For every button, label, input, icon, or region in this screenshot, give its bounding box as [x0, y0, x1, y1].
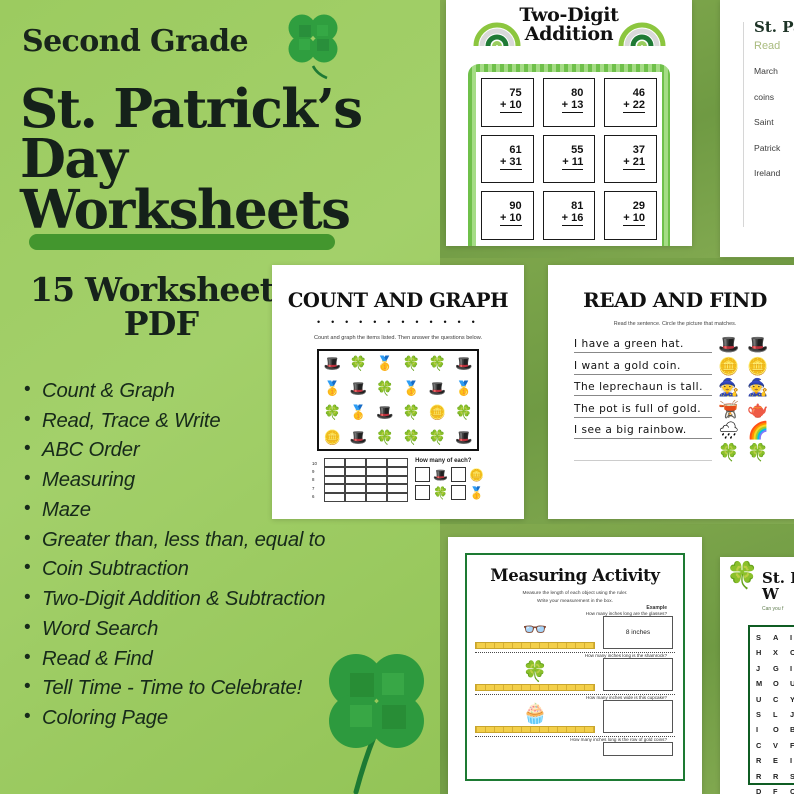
grid-letter[interactable]: G — [773, 664, 790, 673]
axis-tick: 8 — [312, 477, 317, 482]
addition-problem: 46 + 22 — [604, 78, 657, 127]
axis-tick: 9 — [312, 469, 317, 474]
glasses-icon: 👓 — [475, 620, 595, 640]
addend-bottom: + 11 — [562, 156, 583, 170]
worksheet-title: St. P W — [762, 571, 794, 603]
divider-bar — [29, 234, 335, 250]
addition-problem: 37 + 21 — [604, 135, 657, 184]
graph-cell[interactable] — [366, 476, 387, 485]
graph-grid[interactable] — [324, 458, 408, 502]
graph-cell[interactable] — [324, 484, 345, 493]
axis-tick: 10 — [312, 461, 317, 466]
clipart-choice[interactable]: 🌈 — [748, 422, 769, 439]
graph-cell[interactable] — [345, 467, 366, 476]
grid-letter[interactable]: E — [773, 756, 790, 765]
four-leaf-clover-icon — [277, 6, 349, 80]
rainbow-arch-icon — [618, 18, 666, 47]
clipart-item: 🥇 — [376, 356, 393, 370]
clipart-choice[interactable]: 🫖 — [747, 401, 768, 418]
sentence-text: I have a green hat. — [574, 338, 712, 353]
grid-letter[interactable]: S — [756, 633, 773, 642]
measuring-row: 🧁 — [467, 700, 683, 733]
addend-top: 61 — [509, 144, 521, 156]
clipart-choice[interactable]: 🎩 — [718, 336, 739, 353]
grid-letter[interactable]: A — [773, 633, 790, 642]
list-item: Two-Digit Addition & Subtraction — [21, 585, 421, 615]
axis-tick: 6 — [312, 494, 317, 499]
addend-bottom: + 10 — [500, 212, 522, 226]
measuring-object: 🍀 — [475, 662, 595, 691]
clipart-choice[interactable]: 🍀 — [747, 444, 768, 461]
answer-row: 🍀 🥇 — [415, 485, 484, 500]
grid-letter[interactable]: J — [790, 710, 794, 719]
addend-top: 81 — [571, 200, 583, 212]
picture-counting-box: 🎩 🍀 🥇 🍀 🍀 🎩 🥇 🎩 🍀 🥇 🎩 🥇 🍀 🥇 🎩 🍀 🪙 🍀 🪙 🎩 … — [317, 349, 479, 451]
grid-letter[interactable]: C — [756, 741, 773, 750]
worksheet-card-measuring-activity[interactable]: Measuring Activity Measure the length of… — [448, 537, 702, 794]
worksheet-card-read-and-find[interactable]: READ AND FIND Read the sentence. Circle … — [548, 265, 794, 519]
clipart-choice[interactable]: 🧙 — [718, 379, 739, 396]
measuring-object: 🧁 — [475, 704, 595, 733]
addend-bottom: + 31 — [500, 156, 522, 170]
addition-header: Two-Digit Addition — [446, 0, 692, 56]
worksheet-subtitle: Can you f — [762, 606, 794, 612]
grid-letter[interactable]: R — [756, 772, 773, 781]
answer-box[interactable] — [451, 467, 466, 482]
ruler-icon — [475, 642, 595, 649]
clipart-item: 🥇 — [402, 381, 419, 395]
measuring-row: 👓 8 inches — [467, 616, 683, 649]
answer-box[interactable] — [603, 700, 673, 733]
addition-problem: 55 + 11 — [543, 135, 596, 184]
addend-bottom: + 16 — [562, 212, 584, 226]
picture-choices[interactable]: 🧙 🧙 — [718, 379, 792, 396]
grid-letter[interactable]: R — [756, 756, 773, 765]
grid-letter[interactable]: I — [790, 756, 794, 765]
graph-cell[interactable] — [366, 493, 387, 502]
addend-bottom: + 13 — [562, 99, 584, 113]
addend-top: 37 — [633, 144, 645, 156]
grid-letter[interactable]: U — [756, 695, 773, 704]
worksheet-card-read-trace-write[interactable]: St. Pa Read March coins Saint Patrick Ir… — [720, 0, 794, 257]
clipart-item: 🍀 — [376, 381, 393, 395]
graph-cell[interactable] — [387, 458, 408, 467]
graph-cell[interactable] — [387, 476, 408, 485]
grid-letter[interactable]: L — [773, 710, 790, 719]
worksheet-title: READ AND FIND — [548, 288, 794, 312]
list-item: Ireland — [754, 168, 794, 178]
sentence-text: The leprechaun is tall. — [574, 381, 712, 396]
clipart-item: 🍀 — [402, 405, 419, 419]
picture-choices[interactable]: 🪙 🪙 — [718, 358, 792, 375]
answer-box[interactable] — [415, 467, 430, 482]
list-item: March — [754, 66, 794, 76]
grid-letter[interactable]: B — [790, 725, 794, 734]
grid-letter[interactable]: M — [756, 679, 773, 688]
clipart-choice[interactable]: 🎩 — [747, 336, 768, 353]
grid-letter[interactable]: F — [790, 741, 794, 750]
grid-letter[interactable]: O — [773, 725, 790, 734]
graph-cell[interactable] — [324, 467, 345, 476]
clipart-item: 🎩 — [323, 356, 340, 370]
addend-top: 46 — [633, 87, 645, 99]
addend-top: 55 — [571, 144, 583, 156]
clipart-choice[interactable]: 🌧 — [718, 422, 740, 439]
grid-letter[interactable]: J — [756, 664, 773, 673]
grid-letter[interactable]: X — [773, 648, 790, 657]
answer-box[interactable] — [415, 485, 430, 500]
list-item: Greater than, less than, equal to — [21, 526, 421, 556]
clipart-item: 🪙 — [429, 405, 446, 419]
wordsearch-grid[interactable]: S A I L H X O M J G I A M O U T U — [756, 633, 794, 794]
answer-box[interactable]: 8 inches — [603, 616, 673, 649]
addition-problem: 81 + 16 — [543, 191, 596, 240]
grid-letter[interactable]: D — [756, 787, 773, 794]
graph-lower-section: 10 9 8 7 6 How many of each? — [312, 458, 484, 502]
list-item: Patrick — [754, 143, 794, 153]
grid-letter[interactable]: C — [790, 787, 794, 794]
addition-problem: 61 + 31 — [481, 135, 534, 184]
graph-cell[interactable] — [366, 458, 387, 467]
sentence-text: I want a gold coin. — [574, 360, 712, 375]
list-item: Saint — [754, 117, 794, 127]
grid-letter[interactable]: I — [790, 664, 794, 673]
addend-bottom: + 21 — [623, 156, 645, 170]
picture-choices[interactable]: 🍀 🍀 — [718, 444, 792, 461]
addition-problem: 90 + 10 — [481, 191, 534, 240]
worksheet-title: COUNT AND GRAPH — [272, 289, 524, 312]
measuring-row: 🍀 — [467, 658, 683, 691]
reading-body: St. Pa Read March coins Saint Patrick Ir… — [720, 0, 794, 257]
clipart-choice[interactable]: 🧙 — [747, 379, 768, 396]
addend-top: 29 — [633, 200, 645, 212]
grid-letter[interactable]: R — [773, 772, 790, 781]
sentence-row: I want a gold coin. 🪙 🪙 — [574, 358, 792, 375]
clipart-item: 🎩 — [350, 430, 367, 444]
vertical-rule — [743, 22, 744, 227]
worksheet-title: St. Pa — [754, 18, 794, 36]
graph-cell[interactable] — [324, 458, 345, 467]
clipart-item: 🍀 — [429, 356, 446, 370]
clipart-item: 🎩 — [455, 430, 472, 444]
grade-kicker: Second Grade — [22, 24, 248, 59]
worksheet-subtitle: Read — [754, 40, 794, 52]
answer-box[interactable] — [603, 658, 673, 691]
grid-letter[interactable]: U — [790, 679, 794, 688]
rainbow-arch-icon — [473, 18, 521, 47]
answer-row: 🎩 🪙 — [415, 467, 484, 482]
grid-letter[interactable]: O — [773, 679, 790, 688]
list-item: coins — [754, 92, 794, 102]
clipart-item: 🎩 — [376, 405, 393, 419]
grid-letter[interactable]: C — [773, 695, 790, 704]
listing-image: Second Grade St. Patrick’s Day Worksheet… — [0, 0, 794, 794]
cupcake-icon: 🧁 — [475, 704, 595, 724]
clipart-item: 🍀 — [429, 430, 446, 444]
graph-cell[interactable] — [345, 484, 366, 493]
page-title: St. Patrick’s Day Worksheets — [20, 84, 450, 235]
worksheet-instruction: Count and graph the items listed. Then a… — [272, 335, 524, 341]
picture-choices[interactable]: 🌧 🌈 — [718, 422, 792, 439]
grid-letter[interactable]: S — [756, 710, 773, 719]
answer-box[interactable] — [603, 742, 673, 756]
clipart-item: 🍀 — [433, 487, 448, 499]
clipart-item: 🍀 — [376, 430, 393, 444]
grid-letter[interactable]: H — [756, 648, 773, 657]
sentence-row: 🍀 🍀 — [574, 444, 792, 461]
addition-problem-grid: 75 + 10 80 + 13 46 + 22 61 + 31 55 + 1 — [476, 72, 662, 246]
clipart-item: 🎩 — [455, 356, 472, 370]
sentence-row: The leprechaun is tall. 🧙 🧙 — [574, 379, 792, 396]
clipart-item: 🥇 — [350, 405, 367, 419]
worksheet-card-count-and-graph[interactable]: COUNT AND GRAPH • • • • • • • • • • • • … — [272, 265, 524, 519]
shamrock-icon: 🍀 — [475, 662, 595, 682]
picture-choices[interactable]: 🫕 🫖 — [718, 401, 792, 418]
worksheet-title: Measuring Activity — [467, 566, 683, 585]
graph-cell[interactable] — [387, 493, 408, 502]
graph-cell[interactable] — [387, 484, 408, 493]
clipart-item: 🪙 — [323, 430, 340, 444]
sentence-text: I see a big rainbow. — [574, 424, 712, 439]
sentence-row: The pot is full of gold. 🫕 🫖 — [574, 401, 792, 418]
axis-tick: 7 — [312, 486, 317, 491]
graph-cell[interactable] — [366, 467, 387, 476]
clipart-item: 🎩 — [429, 381, 446, 395]
clipart-choice[interactable]: 🍀 — [718, 444, 739, 461]
clipart-item: 🍀 — [350, 356, 367, 370]
dot-divider: • • • • • • • • • • • • — [272, 317, 524, 327]
graph-cell[interactable] — [387, 467, 408, 476]
worksheet-instruction: Measure the length of each object using … — [467, 590, 683, 605]
word-list: March coins Saint Patrick Ireland — [754, 66, 794, 178]
graph-cell[interactable] — [345, 476, 366, 485]
picture-choices[interactable]: 🎩 🎩 — [718, 336, 792, 353]
sentence-row: I see a big rainbow. 🌧 🌈 — [574, 422, 792, 439]
grid-letter[interactable]: F — [773, 787, 790, 794]
graph-cell[interactable] — [345, 493, 366, 502]
graph-cell[interactable] — [366, 484, 387, 493]
sentence-rows: I have a green hat. 🎩 🎩 I want a gold co… — [548, 336, 794, 461]
worksheet-card-two-digit-addition[interactable]: Two-Digit Addition 75 + 10 — [446, 0, 692, 246]
measuring-frame: Measuring Activity Measure the length of… — [465, 553, 685, 781]
worksheet-instruction: Read the sentence. Circle the picture th… — [548, 321, 794, 327]
clipart-choice[interactable]: 🫕 — [718, 401, 739, 418]
worksheet-card-word-search[interactable]: 🍀 St. P W Can you f S A I L H X O M J G … — [720, 557, 794, 794]
clipart-item: 🎩 — [433, 469, 448, 481]
grid-letter[interactable]: S — [790, 772, 794, 781]
grid-letter[interactable]: O — [790, 648, 794, 657]
list-item: Coin Subtraction — [21, 555, 421, 585]
addition-problem: 29 + 10 — [604, 191, 657, 240]
wordsearch-grid-frame: S A I L H X O M J G I A M O U T U — [748, 625, 794, 785]
clipart-item: 🥇 — [455, 381, 472, 395]
question-label: How many of each? — [415, 458, 484, 464]
sentence-row: I have a green hat. 🎩 🎩 — [574, 336, 792, 353]
addition-problem: 75 + 10 — [481, 78, 534, 127]
clipart-item: 🥇 — [469, 487, 484, 499]
wordsearch-body: 🍀 St. P W Can you f S A I L H X O M J G … — [720, 557, 794, 794]
graph-y-axis: 10 9 8 7 6 — [312, 458, 317, 502]
grid-letter[interactable]: V — [773, 741, 790, 750]
answer-box[interactable] — [451, 485, 466, 500]
addend-bottom: + 10 — [623, 212, 645, 226]
clipart-item: 🍀 — [455, 405, 472, 419]
addend-top: 75 — [509, 87, 521, 99]
addend-bottom: + 22 — [623, 99, 645, 113]
graph-cell[interactable] — [324, 476, 345, 485]
measuring-object: 👓 — [475, 620, 595, 649]
graph-cell[interactable] — [345, 458, 366, 467]
graph-questions: How many of each? 🎩 🪙 🍀 🥇 — [415, 458, 484, 502]
clipart-item: 🥇 — [323, 381, 340, 395]
clipart-item: 🎩 — [350, 381, 367, 395]
four-leaf-clover-icon: 🍀 — [726, 565, 758, 586]
ruler-icon — [475, 684, 595, 691]
clipart-item: 🍀 — [323, 405, 340, 419]
addition-problem: 80 + 13 — [543, 78, 596, 127]
grid-letter[interactable]: I — [790, 633, 794, 642]
ruler-icon — [475, 726, 595, 733]
clipart-choice[interactable]: 🪙 — [718, 358, 739, 375]
addend-bottom: + 10 — [500, 99, 522, 113]
clipart-choice[interactable]: 🪙 — [747, 358, 768, 375]
addition-striped-frame: 75 + 10 80 + 13 46 + 22 61 + 31 55 + 1 — [468, 64, 670, 246]
four-leaf-clover-icon — [312, 637, 438, 794]
graph-cell[interactable] — [324, 493, 345, 502]
grid-letter[interactable]: I — [756, 725, 773, 734]
clipart-item: 🍀 — [402, 356, 419, 370]
clipart-item: 🪙 — [469, 469, 484, 481]
grid-letter[interactable]: Y — [790, 695, 794, 704]
addend-top: 90 — [509, 200, 521, 212]
addend-top: 80 — [571, 87, 583, 99]
measuring-row — [467, 742, 683, 756]
sentence-text: The pot is full of gold. — [574, 403, 712, 418]
clipart-item: 🍀 — [402, 430, 419, 444]
sentence-text — [574, 458, 712, 461]
worksheet-count: 15 Worksheets PDF — [21, 273, 301, 340]
